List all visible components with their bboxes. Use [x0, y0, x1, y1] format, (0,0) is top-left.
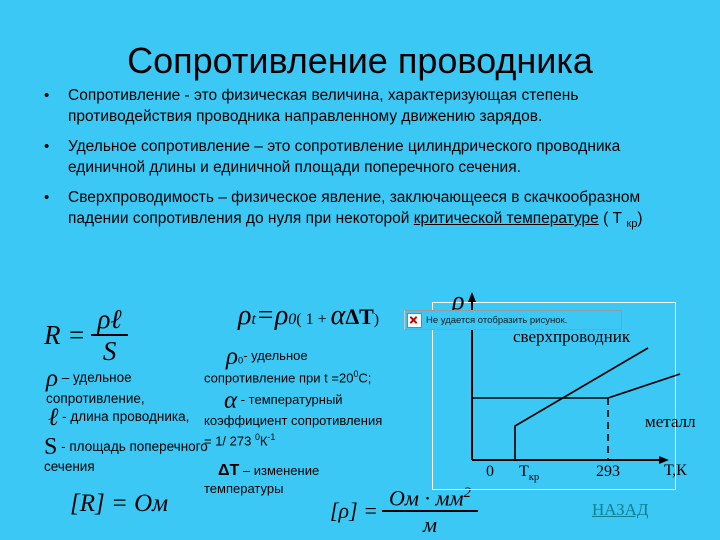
formula-resistance-fraction: ρℓ S [91, 306, 127, 365]
resistivity-legend: ρ0- удельное сопротивление при t =200С; … [204, 346, 394, 501]
legend-rho: ρ – удельное сопротивление, [46, 368, 211, 407]
y-axis-arrow [468, 292, 476, 302]
x-tick-293: 293 [596, 463, 620, 481]
unit-of-resistance: [R] = Ом [70, 490, 168, 518]
alpha-value: = 1/ 273 [204, 433, 255, 448]
rho-t-symbol: ρ [238, 300, 251, 331]
legend-rho-text: – удельное сопротивление, [46, 370, 145, 406]
paren-open: ( 1 + [296, 311, 330, 328]
list-item: • Сверхпроводимость – физическое явление… [36, 188, 676, 232]
unit-rho-denominator: м [416, 512, 444, 536]
bullet-marker: • [44, 86, 49, 106]
s-symbol: S [44, 434, 57, 460]
rho-symbol: ρ [46, 365, 58, 392]
list-item: • Сопротивление - это физическая величин… [36, 86, 676, 127]
bullet-text-tail-sub: кр [626, 218, 637, 230]
unit-rho-lhs: [ρ] = [330, 498, 378, 524]
legend-length-text: - длина проводника, [58, 409, 189, 424]
legend-rho-zero: ρ0- удельное сопротивление при t =200С; [204, 346, 394, 386]
paren-close: ) [374, 311, 379, 328]
list-item: • Удельное сопротивление – это сопротивл… [36, 137, 676, 178]
legend-alpha-value: = 1/ 273 0К-1 [204, 432, 394, 450]
x-axis-label: Т,К [664, 462, 687, 480]
formula-resistance-denominator: S [97, 336, 123, 365]
bullet-text: Сопротивление - это физическая величина,… [68, 87, 578, 125]
equals-sign: = [256, 300, 275, 331]
alpha-value-exp: -1 [267, 432, 275, 442]
series-metal [608, 374, 680, 398]
rho-zero-symbol: ρ [275, 300, 288, 331]
broken-image-placeholder[interactable]: Не удается отобразить рисунок. [404, 310, 622, 330]
formula-resistivity-temperature: ρt=ρ0( 1 + αΔT) [238, 300, 379, 332]
alpha-glyph: α [224, 387, 237, 414]
broken-image-message: Не удается отобразить рисунок. [426, 315, 567, 326]
bullet-text-tail-close: ) [637, 210, 642, 227]
annotation-metal: металл [645, 412, 696, 432]
alpha-symbol: α [331, 300, 346, 331]
broken-image-x-icon [407, 313, 422, 328]
legend-alpha: α - температурный коэффициент сопротивле… [204, 390, 394, 429]
legend-area-text: - площадь поперечного сечения [44, 439, 208, 474]
annotation-superconductor: сверхпроводник [513, 327, 630, 347]
delta-t-symbol: ΔT [345, 304, 373, 329]
critical-temperature-emphasis: критической температуре [414, 210, 599, 227]
rho-zero-glyph: ρ [226, 343, 238, 370]
delta-t-glyph: ΔT [204, 462, 239, 479]
legend-area: S - площадь поперечного сечения [44, 437, 224, 475]
x-tick-zero: 0 [486, 463, 494, 481]
back-link[interactable]: НАЗАД [592, 500, 649, 520]
bullet-list: • Сопротивление - это физическая величин… [36, 86, 676, 242]
formula-resistance-lhs: R = [44, 320, 85, 351]
legend-rho-zero-tail: С; [358, 370, 371, 385]
bullet-marker: • [44, 137, 49, 157]
ell-symbol: ℓ [48, 404, 58, 431]
x-tick-t-critical: Ткр [519, 463, 539, 483]
formula-resistance-numerator: ρℓ [91, 306, 127, 334]
bullet-text-tail-open: ( Т [599, 210, 627, 227]
series-superconductor [472, 348, 648, 460]
page-title: Сопротивление проводника [0, 42, 720, 80]
bullet-marker: • [44, 188, 49, 208]
formula-resistance: R = ρℓ S [44, 306, 128, 365]
bullet-text: Удельное сопротивление – это сопротивлен… [68, 138, 620, 176]
slide-canvas: Сопротивление проводника • Сопротивление… [0, 0, 720, 540]
